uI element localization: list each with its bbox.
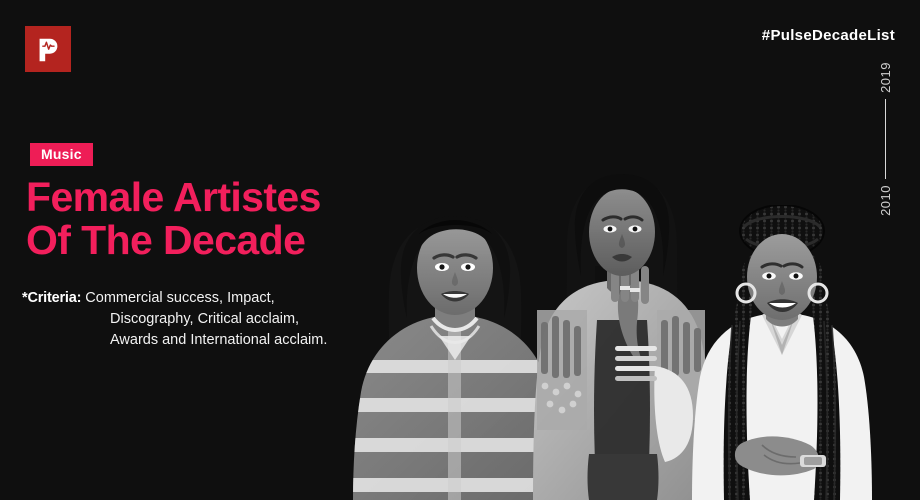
artist-photo-group	[330, 0, 920, 500]
pulse-logo-icon	[33, 34, 63, 64]
artist-middle-face	[589, 188, 655, 276]
criteria-block: *Criteria: Commercial success, Impact, D…	[22, 288, 382, 351]
artist-middle-skirt	[588, 454, 659, 500]
page-title: Female Artistes Of The Decade	[26, 176, 321, 262]
pulse-logo[interactable]	[25, 26, 71, 72]
artist-right-illustration	[670, 205, 895, 500]
artist-photo-right	[670, 205, 895, 500]
category-badge[interactable]: Music	[30, 143, 93, 166]
criteria-line-1: Commercial success, Impact,	[85, 290, 274, 306]
criteria-label: *Criteria:	[22, 290, 81, 306]
artist-middle-fringe-left	[537, 310, 587, 430]
poster-canvas: #PulseDecadeList 2019 2010 Music Female …	[0, 0, 920, 500]
